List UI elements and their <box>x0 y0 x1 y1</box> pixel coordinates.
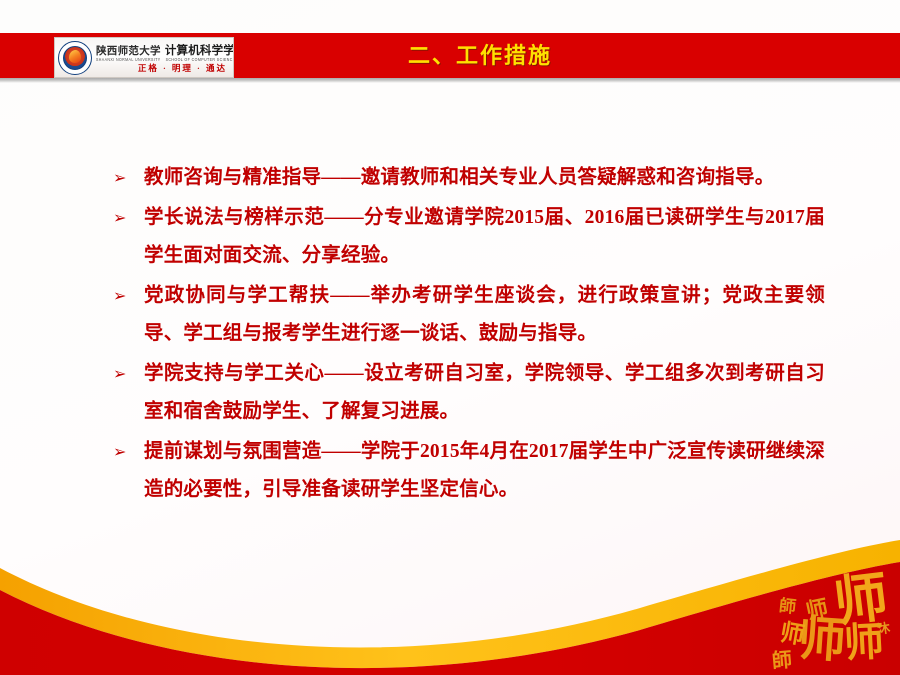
logo-text-column: 陕西师范大学 计算机科学学院 SHAANXI NORMAL UNIVERSITY… <box>92 42 233 74</box>
list-item-text: 党政协同与学工帮扶——举办考研学生座谈会，进行政策宣讲；党政主要领导、学工组与报… <box>144 277 825 353</box>
list-item-text: 提前谋划与氛围营造——学院于2015年4月在2017届学生中广泛宣传读研继续深造… <box>144 433 825 509</box>
logo-school-name-en: SCHOOL OF COMPUTER SCIENCE <box>166 57 234 62</box>
logo-motto: 正格 · 明理 · 通达 <box>96 62 231 74</box>
logo-university-name-cn: 陕西师范大学 <box>96 43 161 58</box>
footer-decoration: 师 师 师 师 師 師 师 沐 <box>0 540 900 675</box>
arrow-bullet-icon: ➢ <box>113 355 144 393</box>
list-item: ➢ 教师咨询与精准指导——邀请教师和相关专业人员答疑解惑和咨询指导。 <box>113 159 825 197</box>
list-item-text: 学院支持与学工关心——设立考研自习室，学院领导、学工组多次到考研自习室和宿舍鼓励… <box>144 355 825 431</box>
logo-university-name-en: SHAANXI NORMAL UNIVERSITY <box>96 57 161 62</box>
list-item: ➢ 学院支持与学工关心——设立考研自习室，学院领导、学工组多次到考研自习室和宿舍… <box>113 355 825 431</box>
list-item-text: 学长说法与榜样示范——分专业邀请学院2015届、2016届已读研学生与2017届… <box>144 199 825 275</box>
page-title: 二、工作措施 <box>300 33 660 78</box>
list-item: ➢ 提前谋划与氛围营造——学院于2015年4月在2017届学生中广泛宣传读研继续… <box>113 433 825 509</box>
bullet-list: ➢ 教师咨询与精准指导——邀请教师和相关专业人员答疑解惑和咨询指导。 ➢ 学长说… <box>113 159 825 511</box>
list-item: ➢ 党政协同与学工帮扶——举办考研学生座谈会，进行政策宣讲；党政主要领导、学工组… <box>113 277 825 353</box>
list-item: ➢ 学长说法与榜样示范——分专业邀请学院2015届、2016届已读研学生与201… <box>113 199 825 275</box>
arrow-bullet-icon: ➢ <box>113 277 144 315</box>
header-bar-shadow <box>0 78 900 83</box>
arrow-bullet-icon: ➢ <box>113 159 144 197</box>
list-item-text: 教师咨询与精准指导——邀请教师和相关专业人员答疑解惑和咨询指导。 <box>144 159 825 197</box>
university-logo: 陕西师范大学 计算机科学学院 SHAANXI NORMAL UNIVERSITY… <box>54 37 234 78</box>
slide-canvas: 二、工作措施 陕西师范大学 计算机科学学院 SHAANXI NORMAL UNI… <box>0 0 900 675</box>
footer-swoosh-shape <box>0 540 900 675</box>
university-seal-icon <box>58 41 92 75</box>
logo-school-name-cn: 计算机科学学院 <box>165 42 234 58</box>
arrow-bullet-icon: ➢ <box>113 199 144 237</box>
arrow-bullet-icon: ➢ <box>113 433 144 471</box>
